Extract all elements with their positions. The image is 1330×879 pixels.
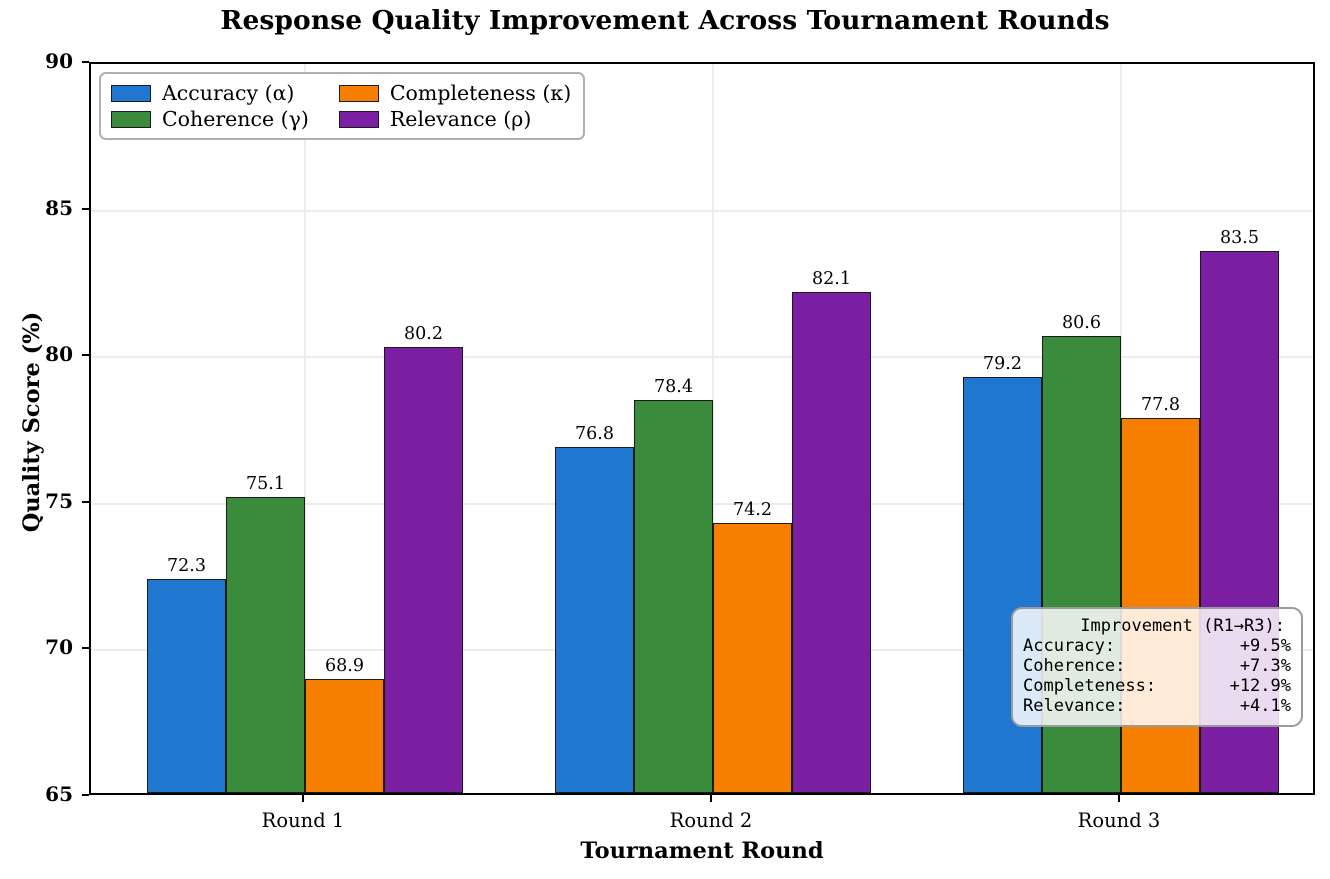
y-axis-tick-label: 65	[0, 782, 73, 806]
bar-value-label: 77.8	[1101, 395, 1220, 415]
legend-entry: Completeness (κ)	[339, 81, 571, 105]
bar-value-label: 78.4	[614, 377, 733, 397]
bar-value-label: 83.5	[1180, 228, 1299, 248]
y-axis-title: Quality Score (%)	[19, 222, 45, 622]
bar	[792, 292, 871, 793]
legend-swatch-icon	[339, 85, 379, 102]
annotation-rows: Accuracy:+9.5%Coherence:+7.3%Completenes…	[1023, 636, 1291, 716]
bar	[634, 400, 713, 793]
bar-value-label: 68.9	[285, 656, 404, 676]
annotation-row: Completeness:+12.9%	[1023, 676, 1291, 696]
x-axis-tick-label: Round 2	[591, 809, 831, 832]
bar	[713, 523, 792, 793]
x-axis-tick-mark	[1118, 795, 1120, 802]
bar	[147, 579, 226, 793]
annotation-row-value: +9.5%	[1240, 636, 1291, 656]
annotation-row-key: Accuracy:	[1023, 636, 1115, 656]
gridline-horizontal	[91, 356, 1313, 358]
legend-entry: Accuracy (α)	[111, 81, 309, 105]
bar-value-label: 76.8	[535, 424, 654, 444]
chart-title: Response Quality Improvement Across Tour…	[0, 5, 1330, 36]
bar	[226, 497, 305, 793]
legend-label: Completeness (κ)	[390, 81, 571, 105]
bar	[555, 447, 634, 793]
legend-label: Coherence (γ)	[162, 107, 309, 131]
bar	[963, 377, 1042, 793]
legend-swatch-icon	[339, 111, 379, 128]
bar-value-label: 79.2	[943, 354, 1062, 374]
legend-entry: Relevance (ρ)	[339, 107, 571, 131]
y-axis-tick-mark	[82, 208, 89, 210]
figure-canvas: Response Quality Improvement Across Tour…	[0, 0, 1330, 879]
annotation-row: Coherence:+7.3%	[1023, 656, 1291, 676]
bar	[384, 347, 463, 793]
annotation-row-value: +4.1%	[1240, 696, 1291, 716]
x-axis-tick-label: Round 3	[999, 809, 1239, 832]
y-axis-tick-label: 85	[0, 196, 73, 220]
legend-label: Accuracy (α)	[162, 81, 294, 105]
annotation-row-value: +12.9%	[1230, 676, 1291, 696]
bar-value-label: 75.1	[206, 474, 325, 494]
annotation-row-value: +7.3%	[1240, 656, 1291, 676]
annotation-row-key: Coherence:	[1023, 656, 1125, 676]
bar-value-label: 82.1	[772, 269, 891, 289]
legend-swatch-icon	[111, 85, 151, 102]
y-axis-tick-mark	[82, 501, 89, 503]
x-axis-tick-mark	[302, 795, 304, 802]
legend-label: Relevance (ρ)	[390, 107, 531, 131]
y-axis-tick-mark	[82, 354, 89, 356]
bar	[1121, 418, 1200, 793]
y-axis-tick-mark	[82, 647, 89, 649]
bar-value-label: 74.2	[693, 500, 812, 520]
y-axis-tick-mark	[82, 794, 89, 796]
annotation-row: Accuracy:+9.5%	[1023, 636, 1291, 656]
y-axis-tick-mark	[82, 61, 89, 63]
gridline-horizontal	[91, 210, 1313, 212]
bar-value-label: 72.3	[127, 556, 246, 576]
annotation-row-key: Relevance:	[1023, 696, 1125, 716]
legend-swatch-icon	[111, 111, 151, 128]
annotation-row: Relevance:+4.1%	[1023, 696, 1291, 716]
chart-legend: Accuracy (α)Completeness (κ)Coherence (γ…	[99, 72, 585, 140]
y-axis-tick-label: 70	[0, 635, 73, 659]
x-axis-title: Tournament Round	[89, 838, 1315, 864]
annotation-row-key: Completeness:	[1023, 676, 1156, 696]
x-axis-tick-label: Round 1	[183, 809, 423, 832]
bar	[305, 679, 384, 793]
bar-value-label: 80.2	[364, 324, 483, 344]
y-axis-tick-label: 90	[0, 49, 73, 73]
annotation-heading: Improvement (R1→R3):	[1023, 616, 1291, 636]
x-axis-tick-mark	[710, 795, 712, 802]
improvement-annotation-box: Improvement (R1→R3): Accuracy:+9.5%Coher…	[1011, 607, 1303, 727]
legend-entry: Coherence (γ)	[111, 107, 309, 131]
bar-value-label: 80.6	[1022, 313, 1141, 333]
